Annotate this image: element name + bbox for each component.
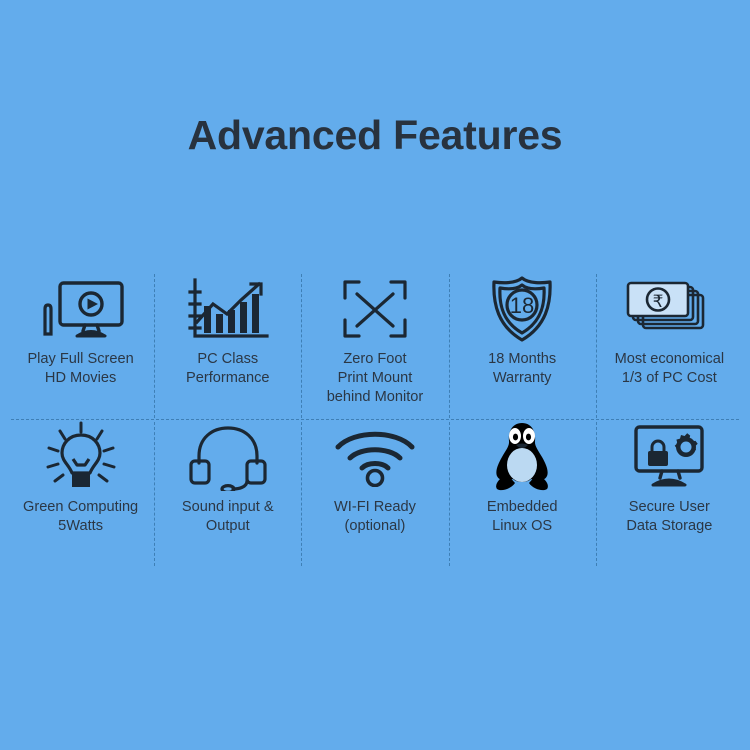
svg-text:₹: ₹ <box>653 292 664 311</box>
wifi-icon <box>332 422 418 492</box>
bar-chart-growth-icon <box>183 274 273 344</box>
feature-label: Most economical 1/3 of PC Cost <box>612 350 728 388</box>
advanced-features-page: Advanced Features <box>0 0 750 750</box>
linux-penguin-icon <box>485 422 559 492</box>
feature-cell-zero-footprint[interactable]: Zero Foot Print Mount behind Monitor <box>301 272 448 420</box>
feature-cell-pc-class-performance[interactable]: PC Class Performance <box>154 272 301 420</box>
feature-label: WI-FI Ready (optional) <box>331 498 419 536</box>
bracket-x-mount-icon <box>335 274 415 344</box>
feature-label: Green Computing 5Watts <box>20 498 141 536</box>
feature-label: 18 Months Warranty <box>485 350 559 388</box>
feature-cell-18-months-warranty[interactable]: 18 18 Months Warranty <box>449 272 596 420</box>
feature-cell-play-full-screen[interactable]: Play Full Screen HD Movies <box>7 272 154 420</box>
feature-label: Secure User Data Storage <box>623 498 715 536</box>
feature-row: Green Computing 5Watts Sound input & <box>7 420 743 568</box>
rupee-banknotes-icon: ₹ <box>623 274 715 344</box>
page-title: Advanced Features <box>0 113 750 158</box>
feature-label: Sound input & Output <box>179 498 277 536</box>
lightbulb-icon <box>43 422 119 492</box>
feature-cell-sound-io[interactable]: Sound input & Output <box>154 420 301 568</box>
features-grid: Play Full Screen HD Movies <box>7 272 743 572</box>
headset-icon <box>187 422 269 492</box>
feature-label: Zero Foot Print Mount behind Monitor <box>324 350 427 407</box>
monitor-lock-gear-icon <box>626 422 712 492</box>
feature-cell-green-computing[interactable]: Green Computing 5Watts <box>7 420 154 568</box>
feature-label: PC Class Performance <box>183 350 273 388</box>
svg-text:18: 18 <box>510 293 534 318</box>
feature-row: Play Full Screen HD Movies <box>7 272 743 420</box>
monitor-play-icon <box>31 274 131 344</box>
feature-cell-embedded-linux[interactable]: Embedded Linux OS <box>449 420 596 568</box>
feature-cell-most-economical[interactable]: ₹ Most economical 1/3 of PC Cost <box>596 272 743 420</box>
feature-cell-wifi-ready[interactable]: WI-FI Ready (optional) <box>301 420 448 568</box>
feature-cell-secure-storage[interactable]: Secure User Data Storage <box>596 420 743 568</box>
shield-18-badge-icon: 18 <box>485 274 559 344</box>
feature-label: Embedded Linux OS <box>484 498 561 536</box>
feature-label: Play Full Screen HD Movies <box>24 350 136 388</box>
